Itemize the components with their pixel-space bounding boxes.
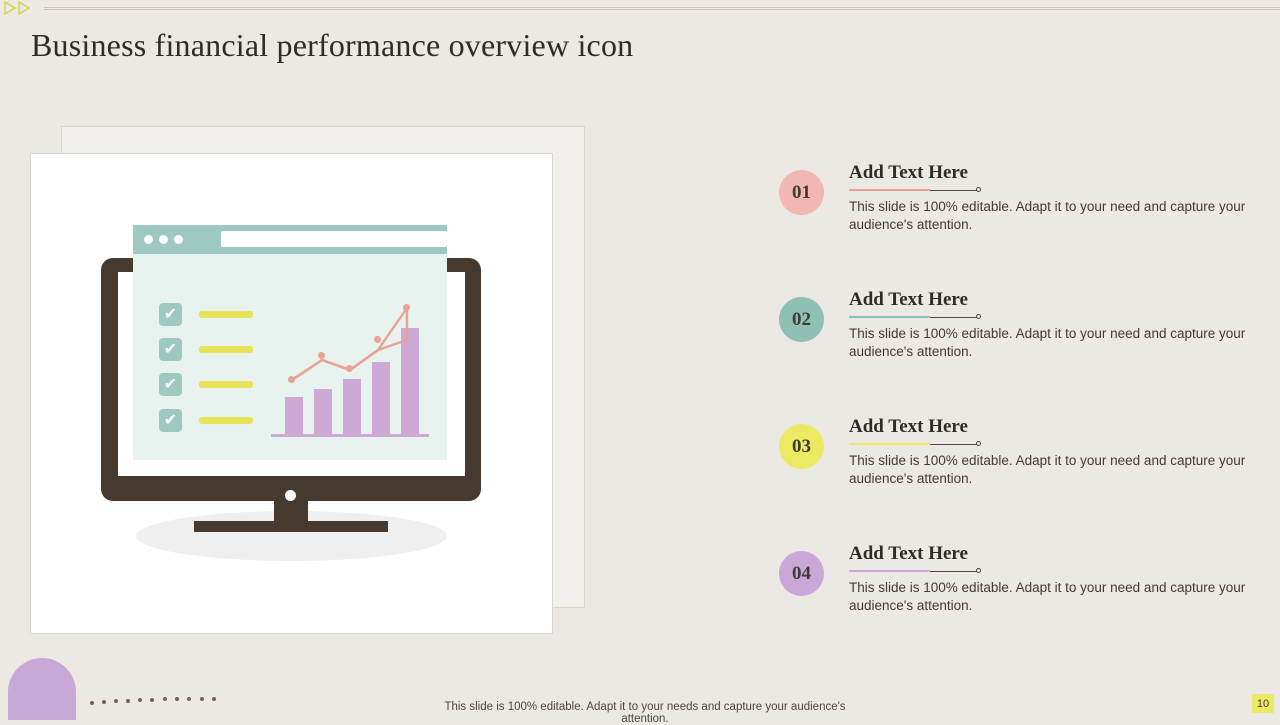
window-dot-1: [144, 235, 153, 244]
checkbox-icon-2: ✔: [159, 338, 182, 361]
browser-address-bar: [221, 231, 447, 247]
checkbox-icon-1: ✔: [159, 303, 182, 326]
window-dot-2: [159, 235, 168, 244]
list-item-underline-01: [849, 189, 979, 191]
chart-line-point-3: [346, 365, 353, 372]
play-icon-1: [4, 1, 16, 15]
list-item-body-02: This slide is 100% editable. Adapt it to…: [849, 325, 1249, 360]
monitor-base: [194, 521, 388, 532]
list-item-underline-04: [849, 570, 979, 572]
monitor-led: [285, 490, 296, 501]
chart-line-point-1: [288, 376, 295, 383]
top-bar: [0, 0, 1280, 16]
list-item-heading-01: Add Text Here: [849, 162, 968, 184]
top-rule: [44, 7, 1280, 10]
checklist-line-4: [199, 417, 253, 424]
decor-half-circle: [8, 658, 76, 720]
checklist-line-3: [199, 381, 253, 388]
play-icon-2: [18, 1, 30, 15]
page-title: Business financial performance overview …: [31, 27, 1131, 64]
checklist-line-1: [199, 311, 253, 318]
chart-bar-1: [285, 397, 303, 434]
footer-note: This slide is 100% editable. Adapt it to…: [430, 701, 860, 725]
list-item-heading-04: Add Text Here: [849, 543, 968, 565]
list-item-badge-03: 03: [779, 424, 824, 469]
list-item-heading-02: Add Text Here: [849, 289, 968, 311]
list-item-badge-01: 01: [779, 170, 824, 215]
list-item-underline-03: [849, 443, 979, 445]
checkbox-icon-3: ✔: [159, 373, 182, 396]
list-item-body-01: This slide is 100% editable. Adapt it to…: [849, 198, 1249, 233]
chart-line-point-4: [374, 336, 381, 343]
page-number-badge: 10: [1252, 694, 1274, 713]
chart-line-point-2: [318, 352, 325, 359]
window-dot-3: [174, 235, 183, 244]
list-item-underline-02: [849, 316, 979, 318]
decor-dot-row: [90, 697, 220, 703]
chart-axis: [271, 434, 429, 437]
list-item-badge-02: 02: [779, 297, 824, 342]
chart-bar-2: [314, 389, 332, 434]
list-item-badge-04: 04: [779, 551, 824, 596]
checkbox-icon-4: ✔: [159, 409, 182, 432]
list-item-heading-03: Add Text Here: [849, 416, 968, 438]
chart-line-point-5: [403, 304, 410, 311]
list-item-body-03: This slide is 100% editable. Adapt it to…: [849, 452, 1249, 487]
list-item-body-04: This slide is 100% editable. Adapt it to…: [849, 579, 1249, 614]
checklist-line-2: [199, 346, 253, 353]
